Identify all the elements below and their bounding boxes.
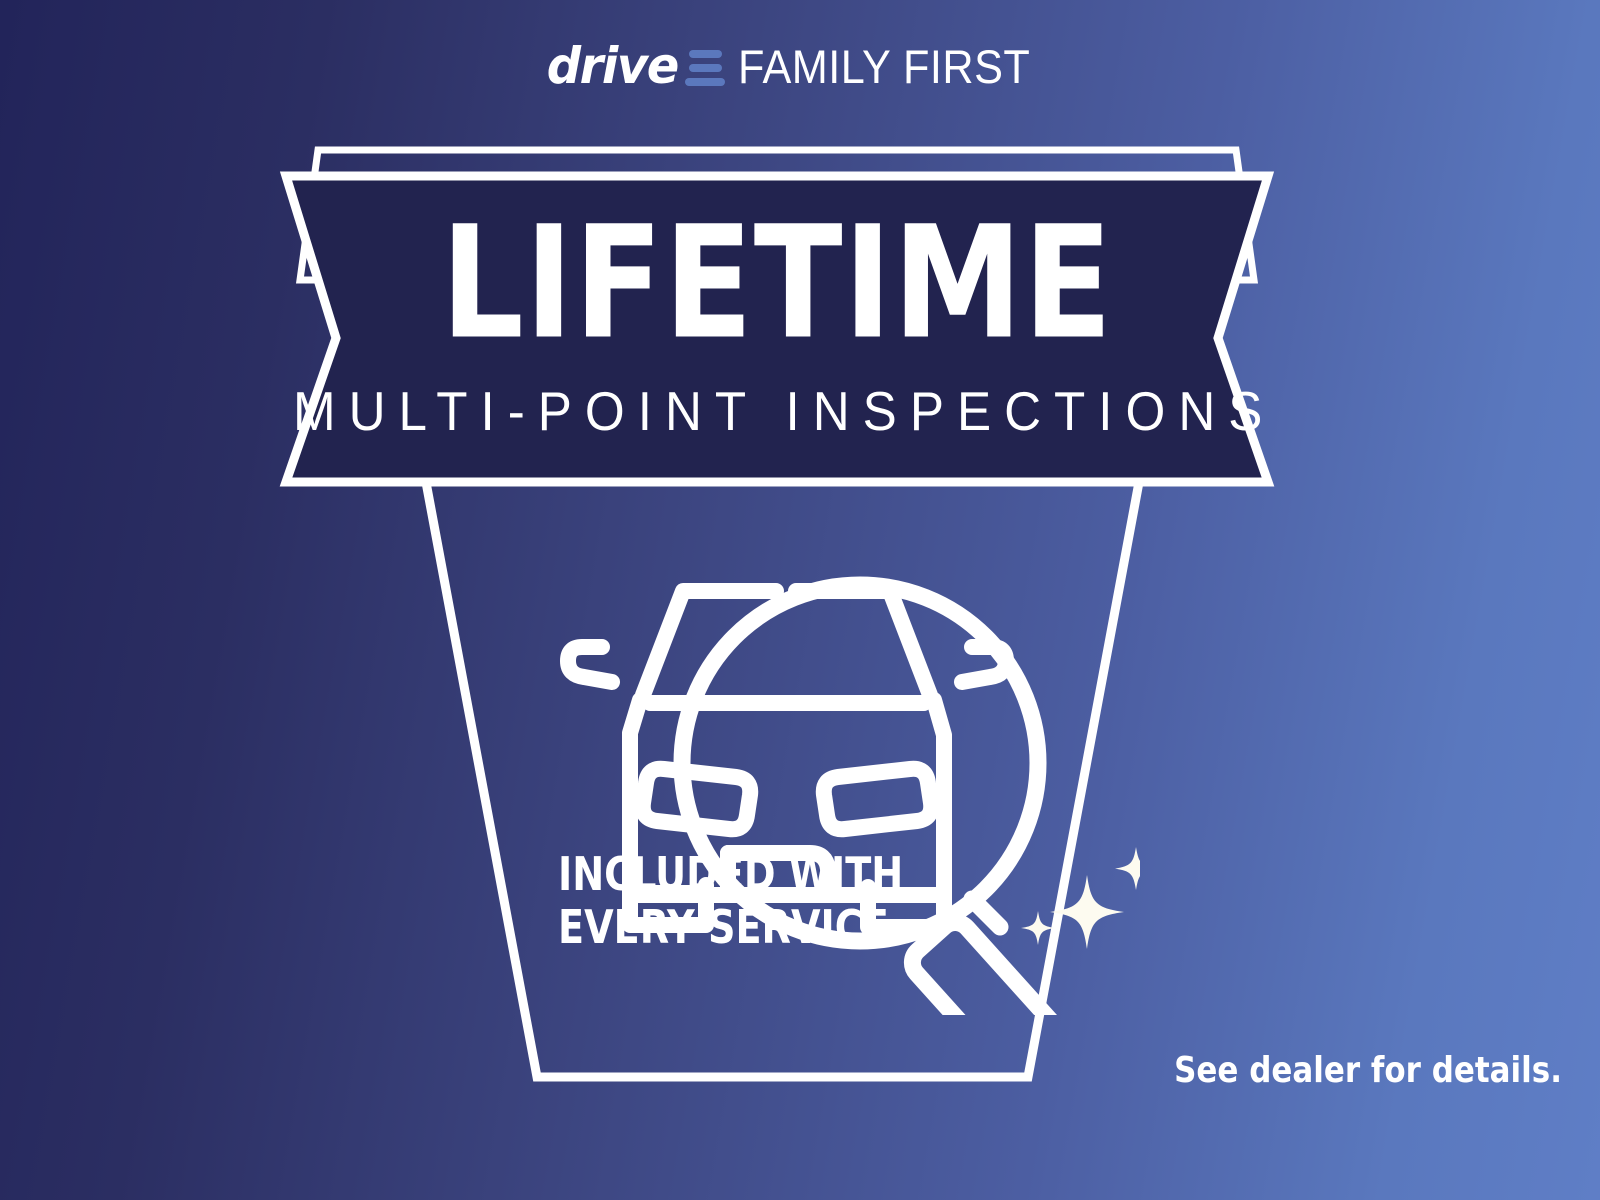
sparkle-small: [1021, 911, 1055, 945]
subheadline: MULTI-POINT INSPECTIONS: [293, 384, 1275, 439]
logo-tagline: FAMILY FIRST: [738, 43, 1030, 90]
headline: LIFETIME: [441, 207, 1113, 359]
included-text: INCLUDED WITH EVERY SERVICE: [558, 848, 903, 955]
disclaimer-text: See dealer for details.: [1174, 1050, 1562, 1091]
logo-wordmark: drive: [547, 41, 678, 91]
magnifier-neck: [972, 899, 1000, 927]
brand-logo: drive FAMILY FIRST: [0, 30, 1600, 102]
banner-text-block: LIFETIME MULTI-POINT INSPECTIONS: [262, 138, 1292, 494]
three-bars-icon: [689, 50, 725, 86]
logo-bar-middle: [689, 64, 722, 72]
sparkle-icon: [1021, 847, 1140, 949]
logo-bar-bottom: [685, 78, 725, 86]
promo-graphic: drive FAMILY FIRST LIFETIME MULTI-POINT …: [0, 0, 1600, 1200]
banner: LIFETIME MULTI-POINT INSPECTIONS: [262, 138, 1292, 494]
sparkle-large: [1050, 875, 1124, 949]
logo-bar-top: [689, 50, 722, 58]
sparkle-medium: [1115, 847, 1140, 890]
